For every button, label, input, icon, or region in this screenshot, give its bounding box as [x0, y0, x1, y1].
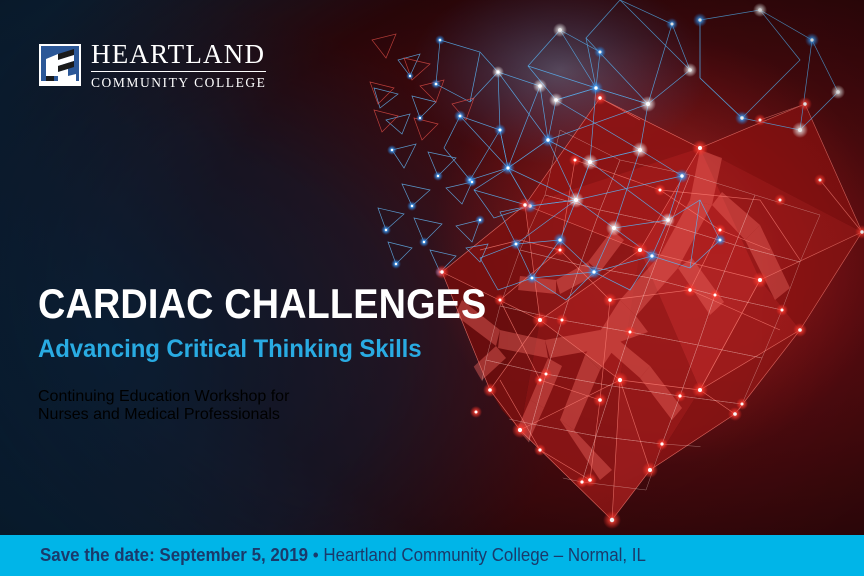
poster-title: CARDIAC CHALLENGES: [38, 283, 461, 325]
save-the-date-banner: Save the date: September 5, 2019 • Heart…: [0, 535, 864, 576]
brand-wordmark: HEARTLAND COMMUNITY COLLEGE: [91, 41, 266, 90]
banner-date: Save the date: September 5, 2019: [40, 545, 308, 565]
banner-location: Heartland Community College – Normal, IL: [323, 545, 646, 565]
brand-logo: HEARTLAND COMMUNITY COLLEGE: [38, 41, 266, 90]
description-line-2: Nurses and Medical Professionals: [38, 406, 508, 424]
promotional-poster: HEARTLAND COMMUNITY COLLEGE CARDIAC CHAL…: [0, 0, 864, 576]
brand-name-secondary: COMMUNITY COLLEGE: [91, 72, 266, 90]
description-line-1: Continuing Education Workshop for: [38, 388, 508, 406]
heartland-building-logo-icon: [38, 43, 82, 87]
brand-name-primary: HEARTLAND: [91, 41, 266, 72]
banner-text: Save the date: September 5, 2019 • Heart…: [40, 545, 646, 566]
poster-subtitle: Advancing Critical Thinking Skills: [38, 336, 489, 362]
headline-block: CARDIAC CHALLENGES Advancing Critical Th…: [38, 283, 508, 440]
banner-separator: •: [308, 545, 323, 565]
